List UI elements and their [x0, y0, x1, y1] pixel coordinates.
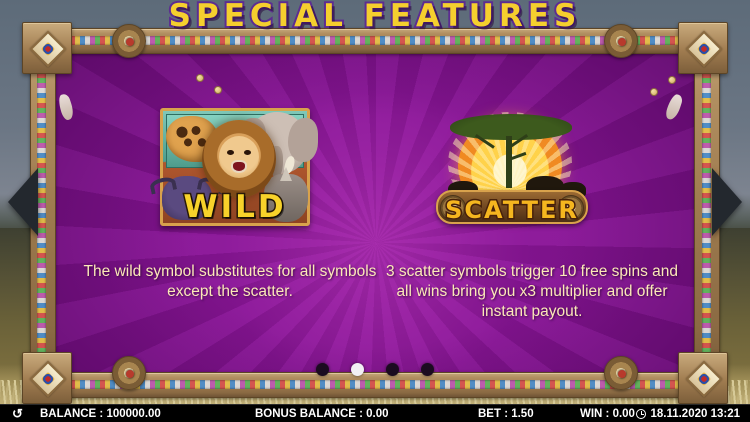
bonus-balance-label: BONUS BALANCE : 0.00 [255, 408, 389, 420]
pagination-dot-4[interactable] [421, 363, 434, 376]
scatter-description: 3 scatter symbols trigger 10 free spins … [382, 262, 682, 322]
bead-ornament [196, 74, 204, 82]
clock-display: 18.11.2020 13:21 [636, 408, 740, 420]
scatter-symbol: SCATTER [432, 112, 592, 224]
pagination-dot-3[interactable] [386, 363, 399, 376]
bead-ornament [650, 88, 658, 96]
page-title: SPECIAL FEATURES [0, 0, 750, 34]
diamond-gem-icon [686, 31, 723, 68]
game-screen: SPECIAL FEATURES WILD [0, 0, 750, 422]
bead-ornament [668, 76, 676, 84]
wild-symbol: WILD [160, 108, 310, 226]
pagination-dot-2[interactable] [351, 363, 364, 376]
datetime-label: 18.11.2020 13:21 [650, 408, 740, 420]
prev-page-button[interactable] [4, 160, 44, 244]
pagination-dots[interactable] [0, 363, 750, 376]
special-features-panel [56, 28, 696, 398]
lion-icon [202, 120, 276, 198]
corner-ornament-bottom-right [678, 352, 728, 404]
scatter-banner: SCATTER [436, 190, 588, 224]
panel-vignette [56, 28, 696, 398]
balance-label: BALANCE : 100000.00 [40, 408, 161, 420]
wild-symbol-label: WILD [160, 189, 310, 225]
corner-ornament-bottom-left [22, 352, 72, 404]
chevron-left-icon[interactable] [8, 168, 38, 236]
status-bar: ↺ BALANCE : 100000.00 BONUS BALANCE : 0.… [0, 404, 750, 422]
scatter-symbol-label: SCATTER [438, 196, 586, 224]
bet-label: BET : 1.50 [478, 408, 534, 420]
pagination-dot-1[interactable] [316, 363, 329, 376]
diamond-gem-icon [30, 31, 67, 68]
next-page-button[interactable] [706, 160, 746, 244]
wild-description: The wild symbol substitutes for all symb… [80, 262, 380, 302]
clock-icon [636, 409, 646, 419]
chevron-right-icon[interactable] [712, 168, 742, 236]
bead-ornament [214, 86, 222, 94]
reload-icon[interactable]: ↺ [12, 406, 23, 422]
win-label: WIN : 0.00 [580, 408, 635, 420]
